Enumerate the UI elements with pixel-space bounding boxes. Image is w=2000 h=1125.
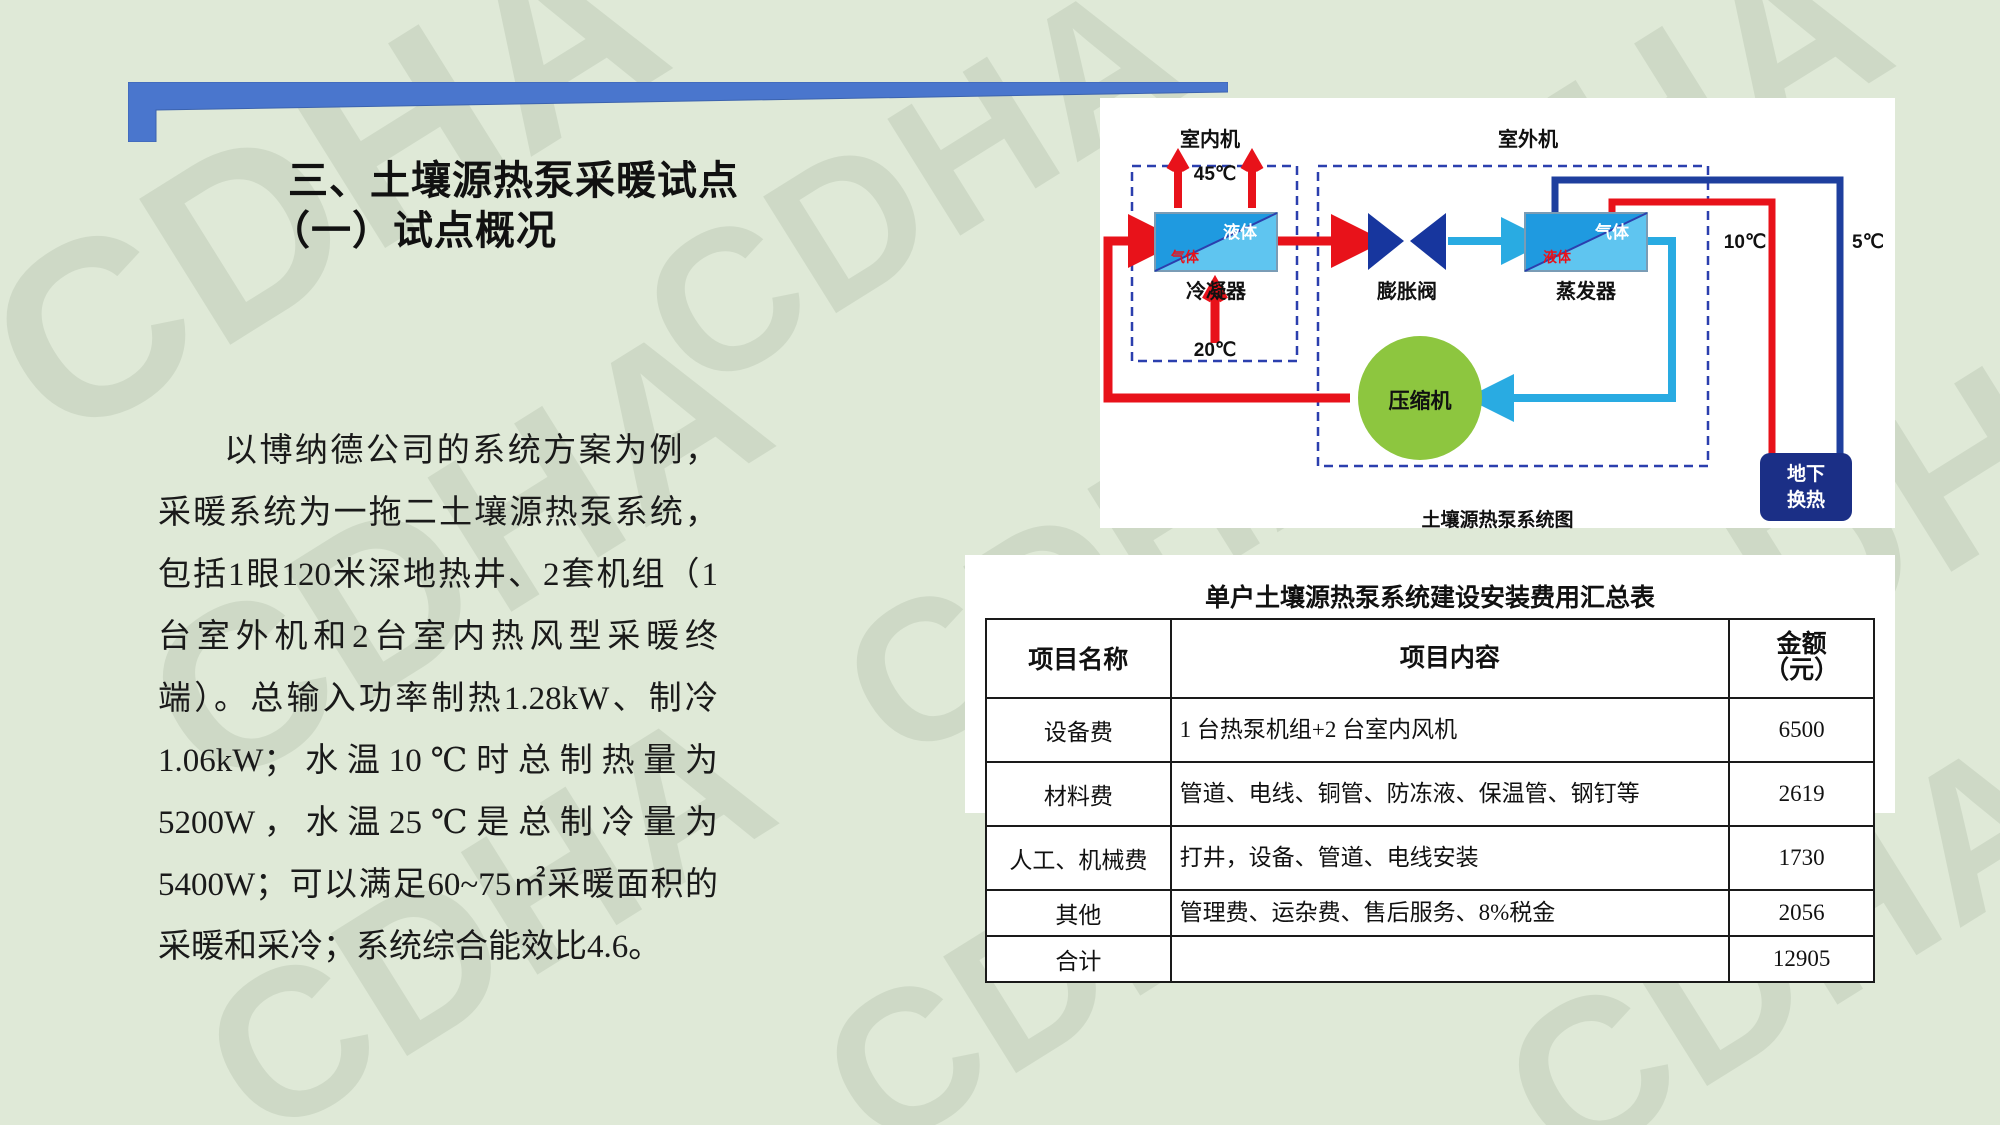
page-subtitle: （一）试点概况 [270,198,557,256]
row-amount: 12905 [1729,936,1874,982]
row-content: 打井，设备、管道、电线安装 [1171,826,1730,890]
cost-table: 项目名称 项目内容 金额 （元） 设备费 1 台热泵机组+2 台室内风机 650… [985,618,1875,983]
header-item-name: 项目名称 [986,619,1171,698]
svg-text:10℃: 10℃ [1724,232,1766,253]
diagram-caption: 土壤源热泵系统图 [1100,505,1895,532]
row-amount: 2056 [1729,890,1874,936]
cost-table-title: 单户土壤源热泵系统建设安装费用汇总表 [965,578,1895,614]
row-name: 设备费 [986,698,1171,762]
header-accent-bar [128,82,1228,142]
row-amount: 1730 [1729,826,1874,890]
table-row: 材料费 管道、电线、铜管、防冻液、保温管、钢钉等 2619 [986,762,1874,826]
table-row: 人工、机械费 打井，设备、管道、电线安装 1730 [986,826,1874,890]
table-row: 其他 管理费、运杂费、售后服务、8%税金 2056 [986,890,1874,936]
row-content: 管理费、运杂费、售后服务、8%税金 [1171,890,1730,936]
row-name: 人工、机械费 [986,826,1171,890]
svg-text:气体: 气体 [1594,222,1630,242]
header-amount-line2: （元） [1764,657,1839,684]
svg-text:蒸发器: 蒸发器 [1556,279,1617,303]
row-content: 1 台热泵机组+2 台室内风机 [1171,698,1730,762]
header-amount-line1: 金额 [1777,631,1827,658]
row-content: 管道、电线、铜管、防冻液、保温管、钢钉等 [1171,762,1730,826]
row-amount: 6500 [1729,698,1874,762]
header-item-content: 项目内容 [1171,619,1730,698]
table-header-row: 项目名称 项目内容 金额 （元） [986,619,1874,698]
row-amount: 2619 [1729,762,1874,826]
svg-text:液体: 液体 [1543,249,1572,265]
svg-text:20℃: 20℃ [1194,340,1236,361]
row-name: 其他 [986,890,1171,936]
table-row: 设备费 1 台热泵机组+2 台室内风机 6500 [986,698,1874,762]
row-content [1171,936,1730,982]
svg-text:45℃: 45℃ [1194,164,1236,185]
body-paragraph: 以博纳德公司的系统方案为例，采暖系统为一拖二土壤源热泵系统，包括1眼120米深地… [158,420,718,978]
svg-text:5℃: 5℃ [1852,232,1884,253]
heat-pump-system-diagram: 液体 气体 45℃ 20℃ 气体 液体 压缩机 地下 换热 室内机 室外机 冷凝… [1100,98,1895,528]
svg-text:室外机: 室外机 [1498,127,1558,151]
row-name: 材料费 [986,762,1171,826]
row-name: 合计 [986,936,1171,982]
svg-text:膨胀阀: 膨胀阀 [1376,279,1437,303]
svg-text:地下: 地下 [1787,462,1825,485]
header-amount: 金额 （元） [1729,619,1874,698]
table-row-total: 合计 12905 [986,936,1874,982]
svg-text:气体: 气体 [1170,249,1200,265]
svg-text:冷凝器: 冷凝器 [1186,279,1247,303]
svg-text:压缩机: 压缩机 [1389,389,1452,413]
svg-text:液体: 液体 [1223,222,1258,242]
